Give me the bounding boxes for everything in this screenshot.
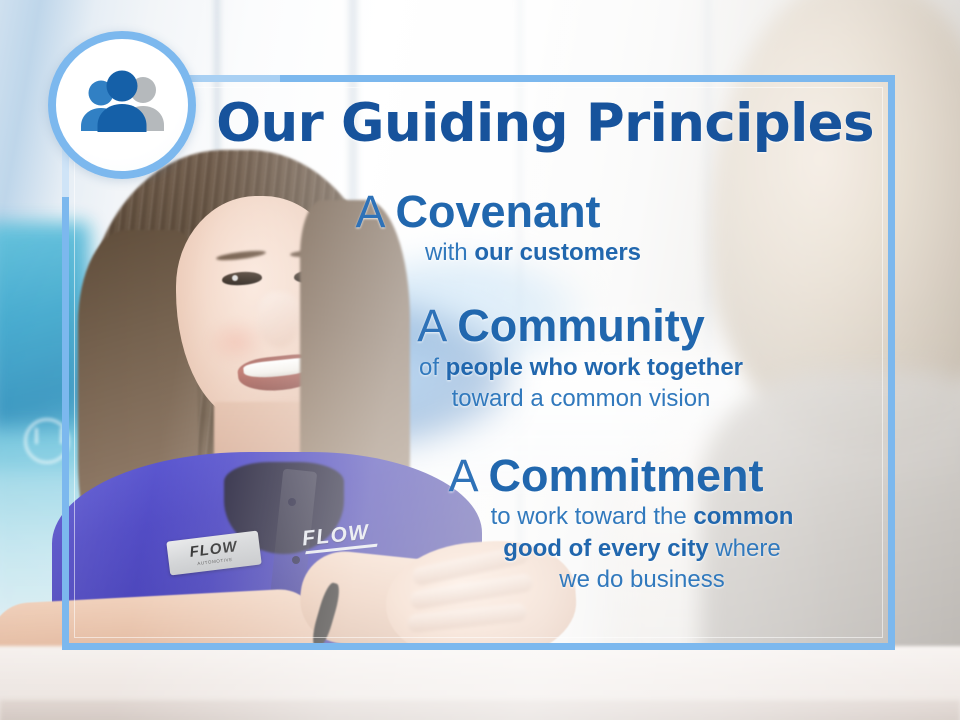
principle-heading: A Community — [210, 300, 878, 351]
principle-item: A Commitment to work toward the commongo… — [210, 450, 878, 595]
principle-keyword: Community — [457, 300, 705, 351]
principle-keyword: Commitment — [489, 450, 764, 501]
principle-description-line: we do business — [406, 564, 878, 595]
principle-description-line: with our customers — [210, 237, 856, 268]
plain-text: we do business — [559, 566, 724, 593]
principles-list: A Covenant with our customers A Communit… — [210, 186, 878, 601]
page-title: Our Guiding Principles — [210, 96, 880, 151]
principle-heading: A Covenant — [210, 186, 878, 237]
guiding-principles-banner: FLOW AUTOMOTIVE FLOW — [0, 0, 960, 720]
emphasis-text: good of every city — [503, 535, 708, 562]
plain-text: where — [709, 535, 781, 562]
principle-article: A — [448, 450, 476, 501]
plain-text: to work toward the — [491, 503, 694, 530]
emphasis-text: our customers — [474, 239, 641, 266]
principle-item: A Community of people who work togethert… — [210, 300, 878, 414]
principle-description-line: toward a common vision — [284, 383, 878, 414]
plain-text: with — [425, 239, 474, 266]
emphasis-text: people who work together — [446, 354, 743, 381]
plain-text: of — [419, 354, 446, 381]
principle-description: to work toward the commongood of every c… — [210, 501, 878, 595]
principle-heading: A Commitment — [210, 450, 878, 501]
spacer — [210, 420, 878, 450]
principle-description-line: of people who work together — [284, 352, 878, 383]
people-group-icon-badge — [48, 31, 196, 179]
people-group-icon — [72, 69, 172, 141]
principle-description: with our customers — [210, 237, 878, 268]
principle-description-line: good of every city where — [406, 533, 878, 564]
principle-keyword: Covenant — [396, 186, 601, 237]
principle-article: A — [355, 186, 383, 237]
principle-article: A — [417, 300, 445, 351]
principle-item: A Covenant with our customers — [210, 186, 878, 268]
emphasis-text: common — [693, 503, 793, 530]
principle-description: of people who work togethertoward a comm… — [210, 352, 878, 414]
table-edge — [0, 700, 960, 720]
spacer — [210, 274, 878, 300]
plain-text: toward a common vision — [452, 385, 711, 412]
principle-description-line: to work toward the common — [406, 501, 878, 532]
